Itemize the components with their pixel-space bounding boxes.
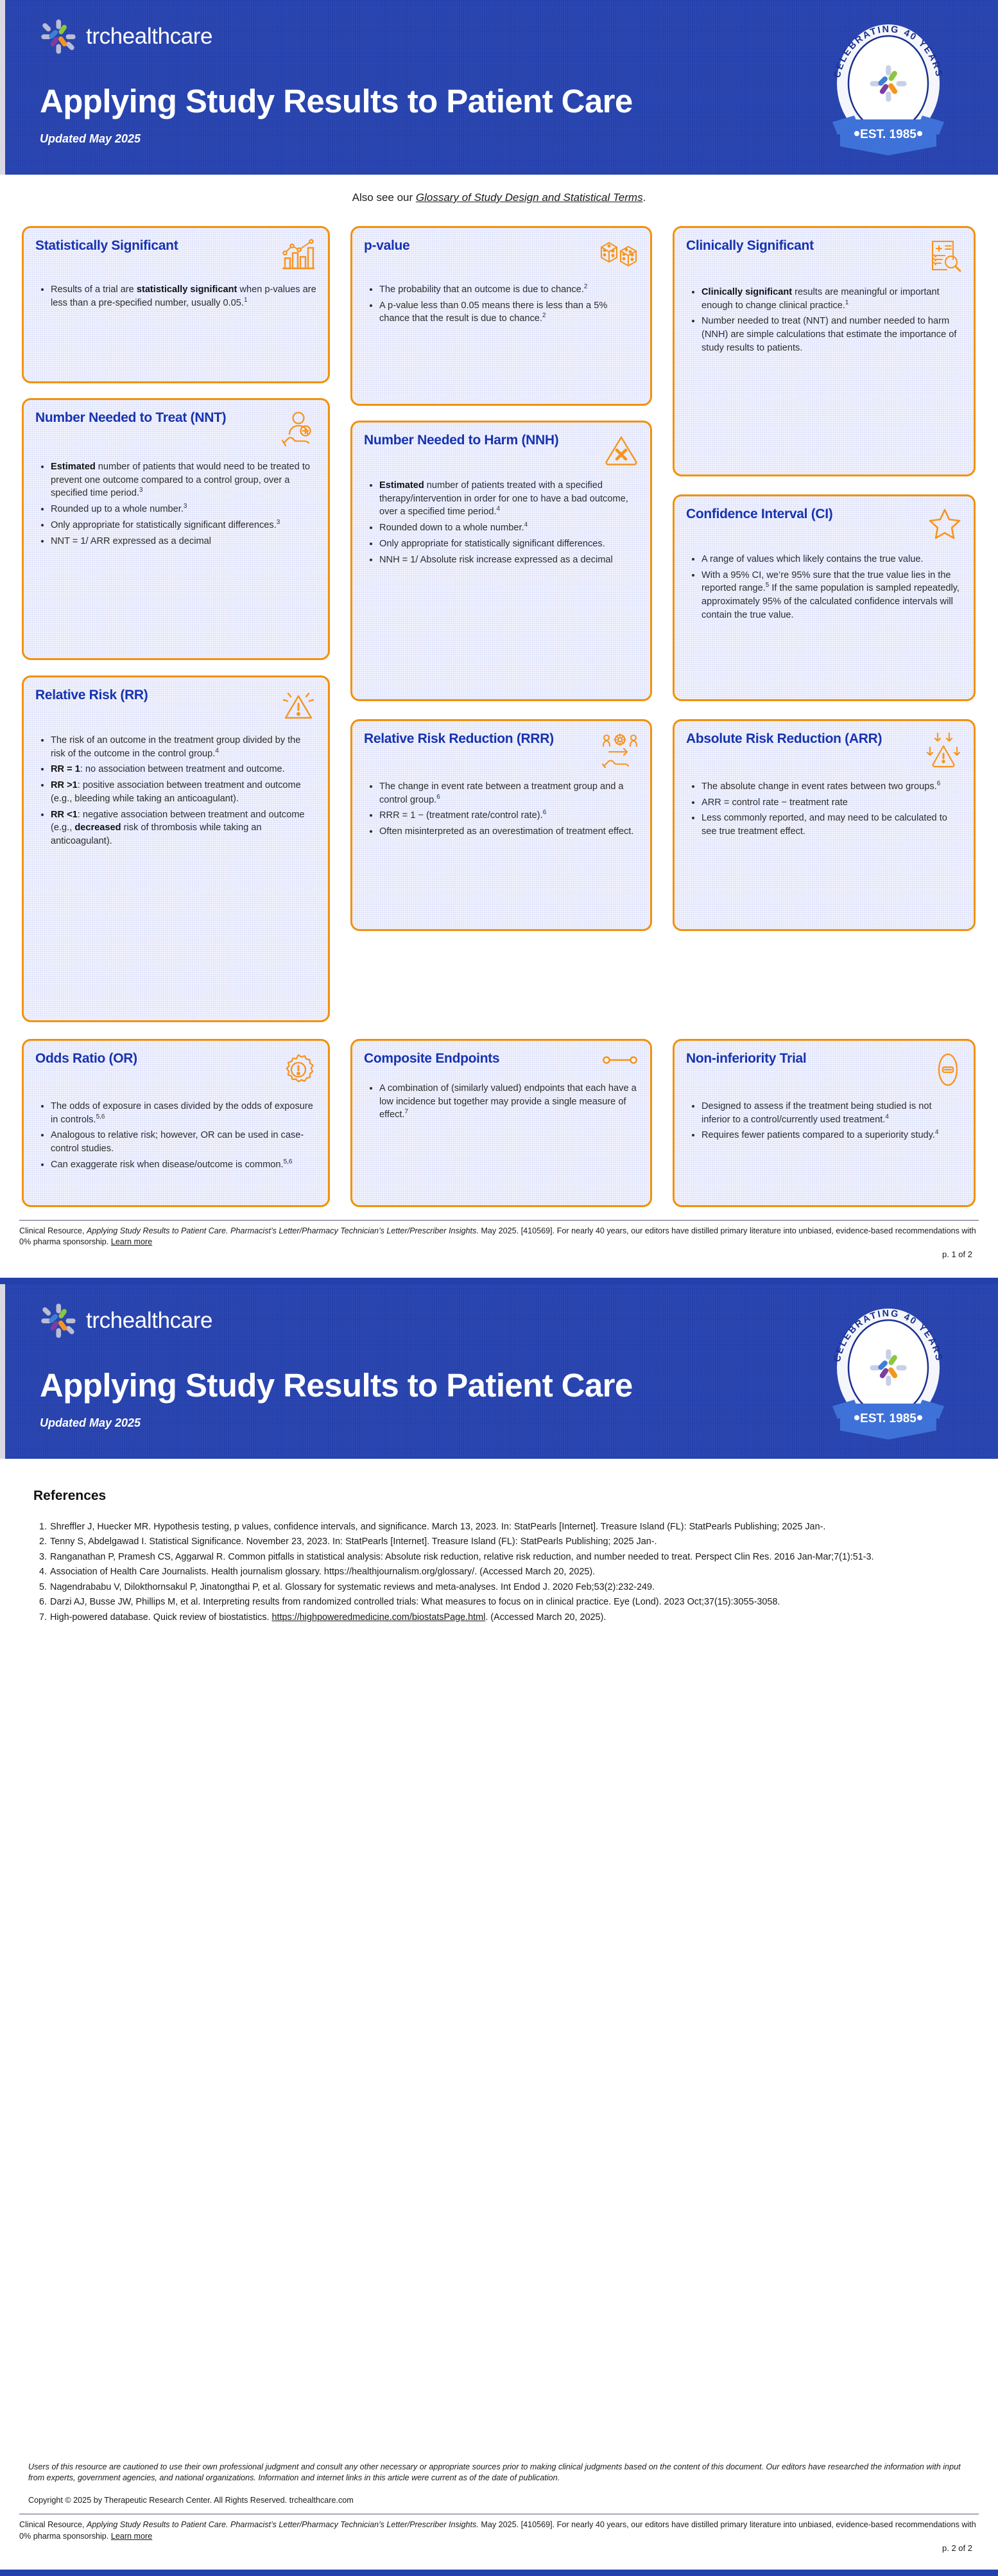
card-bullet: RR <1: negative association between trea… xyxy=(51,808,316,848)
brand-lockup: trchealthcare xyxy=(40,18,212,55)
brand-name: trchealthcare xyxy=(86,1308,212,1334)
card-bullet: Estimated number of patients treated wit… xyxy=(379,479,639,519)
page-separator-strip xyxy=(0,1278,998,1284)
card-number-needed-to-treat: Number Needed to Treat (NNT) Estimated n… xyxy=(22,398,330,660)
glossary-link[interactable]: Glossary of Study Design and Statistical… xyxy=(416,191,643,204)
card-title: Statistically Significant xyxy=(35,238,178,254)
card-bullet: Less commonly reported, and may need to … xyxy=(701,812,962,838)
reference-text: High-powered database. Quick review of b… xyxy=(50,1611,965,1624)
card-bullets: The odds of exposure in cases divided by… xyxy=(38,1100,316,1172)
glossary-note-prefix: Also see our xyxy=(352,191,416,204)
reference-text: Nagendrababu V, Dilokthornsakul P, Jinat… xyxy=(50,1581,965,1594)
anniversary-seal-icon: CELEBRATING 40 YEARS EST. 1985 xyxy=(821,1298,956,1446)
card-composite-endpoints: Composite Endpoints A combination of (si… xyxy=(350,1039,652,1207)
card-header: Composite Endpoints xyxy=(364,1051,639,1073)
reference-item: 7.High-powered database. Quick review of… xyxy=(33,1611,965,1624)
page-1-number: p. 1 of 2 xyxy=(0,1248,998,1259)
reference-number: 1. xyxy=(33,1520,50,1533)
card-title: Relative Risk (RR) xyxy=(35,688,148,703)
card-bullet: The risk of an outcome in the treatment … xyxy=(51,734,316,760)
card-bullet: RR >1: positive association between trea… xyxy=(51,779,316,805)
card-title: Absolute Risk Reduction (ARR) xyxy=(686,731,882,747)
glossary-note-suffix: . xyxy=(643,191,646,204)
reference-item: 4.Association of Health Care Journalists… xyxy=(33,1565,965,1578)
card-title: p-value xyxy=(364,238,409,254)
reference-text: Shreffler J, Huecker MR. Hypothesis test… xyxy=(50,1520,965,1533)
card-bullet: NNT = 1/ ARR expressed as a decimal xyxy=(51,535,316,548)
card-bullets: The absolute change in event rates betwe… xyxy=(689,780,962,839)
page-2-bottom-block: Users of this resource are cautioned to … xyxy=(0,2462,998,2576)
card-bullets: Clinically significant results are meani… xyxy=(689,286,962,355)
card-absolute-risk-reduction: Absolute Risk Reduction (ARR) The absolu… xyxy=(673,719,976,931)
page-1-header-banner: trchealthcare Applying Study Results to … xyxy=(0,0,998,175)
card-confidence-interval: Confidence Interval (CI) A range of valu… xyxy=(673,494,976,701)
card-header: Number Needed to Harm (NNH) xyxy=(364,433,639,470)
brand-lockup: trchealthcare xyxy=(40,1302,212,1339)
card-bullet: With a 95% CI, we’re 95% sure that the t… xyxy=(701,569,962,622)
reference-item: 1.Shreffler J, Huecker MR. Hypothesis te… xyxy=(33,1520,965,1533)
card-bullet: NNH = 1/ Absolute risk increase expresse… xyxy=(379,553,639,567)
brand-name: trchealthcare xyxy=(86,24,212,49)
card-bullet: Clinically significant results are meani… xyxy=(701,286,962,312)
page-title: Applying Study Results to Patient Care xyxy=(40,1366,633,1404)
spacer xyxy=(0,2505,998,2514)
reference-text: Association of Health Care Journalists. … xyxy=(50,1565,965,1578)
reference-number: 7. xyxy=(33,1611,50,1624)
trc-pinwheel-logo-icon xyxy=(40,1302,77,1339)
definition-cards-board: Statistically Significant xyxy=(0,212,998,1220)
reference-item: 6.Darzi AJ, Busse JW, Phillips M, et al.… xyxy=(33,1596,965,1608)
card-number-needed-to-harm: Number Needed to Harm (NNH) Estimated nu… xyxy=(350,421,652,701)
card-bullets: The probability that an outcome is due t… xyxy=(366,283,639,326)
page-2: trchealthcare Applying Study Results to … xyxy=(0,1284,998,2576)
gear-exclamation-icon xyxy=(280,1052,316,1091)
card-bullet: RRR = 1 − (treatment rate/control rate).… xyxy=(379,809,639,822)
warning-triangle-exclamation-icon xyxy=(280,688,316,725)
card-header: Statistically Significant xyxy=(35,238,316,274)
card-title: Clinically Significant xyxy=(686,238,814,254)
copyright-line: Copyright © 2025 by Therapeutic Research… xyxy=(0,2484,998,2505)
card-p-value: p-value xyxy=(350,226,652,406)
references-section: References 1.Shreffler J, Huecker MR. Hy… xyxy=(0,1459,998,1624)
card-bullet: ARR = control rate − treatment rate xyxy=(701,796,962,810)
page-1: trchealthcare Applying Study Results to … xyxy=(0,0,998,1278)
anniversary-seal-icon: CELEBRATING 40 YEARS EST. 1985 xyxy=(821,14,956,162)
svg-text:EST. 1985: EST. 1985 xyxy=(860,128,916,141)
card-bullet: Designed to assess if the treatment bein… xyxy=(701,1100,962,1126)
card-title: Composite Endpoints xyxy=(364,1051,499,1066)
card-title: Number Needed to Harm (NNH) xyxy=(364,433,558,448)
banner-left-edge xyxy=(0,1284,5,1459)
card-title: Relative Risk Reduction (RRR) xyxy=(364,731,554,747)
disclaimer-text: Users of this resource are cautioned to … xyxy=(0,2462,998,2485)
updated-date: Updated May 2025 xyxy=(40,1416,141,1430)
banner-left-edge xyxy=(0,0,5,175)
card-bullet: A range of values which likely contains … xyxy=(701,553,962,566)
minus-in-oval-icon xyxy=(934,1052,962,1091)
card-header: p-value xyxy=(364,238,639,274)
page-2-number: p. 2 of 2 xyxy=(0,2542,998,2553)
star-outline-icon xyxy=(927,507,962,544)
card-bullet: Rounded down to a whole number.4 xyxy=(379,521,639,535)
reference-number: 3. xyxy=(33,1551,50,1563)
card-bullets: A range of values which likely contains … xyxy=(689,553,962,622)
page-bottom-strip xyxy=(0,2570,998,2576)
card-bullet: The change in event rate between a treat… xyxy=(379,780,639,806)
card-header: Relative Risk Reduction (RRR) xyxy=(364,731,639,771)
card-bullets: A combination of (similarly valued) endp… xyxy=(366,1082,639,1122)
updated-date: Updated May 2025 xyxy=(40,132,141,146)
card-header: Relative Risk (RR) xyxy=(35,688,316,725)
svg-text:EST. 1985: EST. 1985 xyxy=(860,1412,916,1425)
reference-text: Darzi AJ, Busse JW, Phillips M, et al. I… xyxy=(50,1596,965,1608)
people-gear-hand-icon xyxy=(601,732,639,771)
card-relative-risk: Relative Risk (RR) The risk of an outcom… xyxy=(22,675,330,1022)
card-bullet: Can exaggerate risk when disease/outcome… xyxy=(51,1158,316,1172)
patient-care-hand-icon xyxy=(279,411,316,451)
card-title: Non-inferiority Trial xyxy=(686,1051,806,1066)
card-bullet: The odds of exposure in cases divided by… xyxy=(51,1100,316,1126)
hazard-triangle-x-icon xyxy=(604,433,639,470)
card-title: Odds Ratio (OR) xyxy=(35,1051,137,1066)
card-non-inferiority-trial: Non-inferiority Trial Designed to assess… xyxy=(673,1039,976,1207)
card-header: Odds Ratio (OR) xyxy=(35,1051,316,1091)
card-header: Number Needed to Treat (NNT) xyxy=(35,410,316,451)
card-bullet: Requires fewer patients compared to a su… xyxy=(701,1129,962,1142)
card-bullet: The probability that an outcome is due t… xyxy=(379,283,639,297)
card-clinically-significant: Clinically Significant Clinically signif… xyxy=(673,226,976,476)
reference-item: 5.Nagendrababu V, Dilokthornsakul P, Jin… xyxy=(33,1581,965,1594)
card-bullet: The absolute change in event rates betwe… xyxy=(701,780,962,794)
card-bullet: Analogous to relative risk; however, OR … xyxy=(51,1129,316,1155)
reference-number: 6. xyxy=(33,1596,50,1608)
card-bullet: Number needed to treat (NNT) and number … xyxy=(701,315,962,354)
card-bullet: A p-value less than 0.05 means there is … xyxy=(379,299,639,326)
medical-report-magnifier-icon xyxy=(927,239,962,277)
card-bullets: Designed to assess if the treatment bein… xyxy=(689,1100,962,1142)
card-header: Non-inferiority Trial xyxy=(686,1051,962,1091)
page-title: Applying Study Results to Patient Care xyxy=(40,82,633,120)
card-title: Confidence Interval (CI) xyxy=(686,507,833,522)
card-title: Number Needed to Treat (NNT) xyxy=(35,410,226,426)
reference-text: Ranganathan P, Pramesh CS, Aggarwal R. C… xyxy=(50,1551,965,1563)
card-header: Absolute Risk Reduction (ARR) xyxy=(686,731,962,771)
trc-pinwheel-logo-icon xyxy=(40,18,77,55)
link-connector-icon xyxy=(601,1052,639,1072)
page-2-footer-citation: Clinical Resource, Applying Study Result… xyxy=(0,2514,998,2542)
reference-item: 3.Ranganathan P, Pramesh CS, Aggarwal R.… xyxy=(33,1551,965,1563)
card-bullet: Results of a trial are statistically sig… xyxy=(51,283,316,309)
card-header: Confidence Interval (CI) xyxy=(686,507,962,544)
card-bullets: Estimated number of patients treated wit… xyxy=(366,479,639,566)
down-arrows-alert-icon xyxy=(925,732,962,771)
bar-chart-trend-icon xyxy=(280,239,316,274)
card-bullets: The change in event rate between a treat… xyxy=(366,780,639,839)
reference-number: 4. xyxy=(33,1565,50,1578)
references-heading: References xyxy=(33,1488,965,1504)
card-bullet: Only appropriate for statistically signi… xyxy=(51,519,316,532)
card-bullet: A combination of (similarly valued) endp… xyxy=(379,1082,639,1122)
references-list: 1.Shreffler J, Huecker MR. Hypothesis te… xyxy=(33,1520,965,1624)
dice-icon xyxy=(599,239,639,274)
card-header: Clinically Significant xyxy=(686,238,962,277)
card-bullet: RR = 1: no association between treatment… xyxy=(51,763,316,776)
reference-item: 2.Tenny S, Abdelgawad I. Statistical Sig… xyxy=(33,1535,965,1548)
page-1-footer-citation: Clinical Resource, Applying Study Result… xyxy=(0,1221,998,1248)
reference-number: 5. xyxy=(33,1581,50,1594)
page-2-header-banner: trchealthcare Applying Study Results to … xyxy=(0,1284,998,1459)
card-odds-ratio: Odds Ratio (OR) The odds of exposure in … xyxy=(22,1039,330,1207)
reference-number: 2. xyxy=(33,1535,50,1548)
glossary-note: Also see our Glossary of Study Design an… xyxy=(0,175,998,204)
card-bullet: Rounded up to a whole number.3 xyxy=(51,503,316,516)
card-statistically-significant: Statistically Significant xyxy=(22,226,330,383)
card-bullet: Often misinterpreted as an overestimatio… xyxy=(379,825,639,839)
card-bullets: Results of a trial are statistically sig… xyxy=(38,283,316,309)
card-bullet: Only appropriate for statistically signi… xyxy=(379,537,639,551)
reference-text: Tenny S, Abdelgawad I. Statistical Signi… xyxy=(50,1535,965,1548)
card-bullets: The risk of an outcome in the treatment … xyxy=(38,734,316,848)
card-bullet: Estimated number of patients that would … xyxy=(51,460,316,500)
card-relative-risk-reduction: Relative Risk Reduction (RRR) The change… xyxy=(350,719,652,931)
card-bullets: Estimated number of patients that would … xyxy=(38,460,316,548)
